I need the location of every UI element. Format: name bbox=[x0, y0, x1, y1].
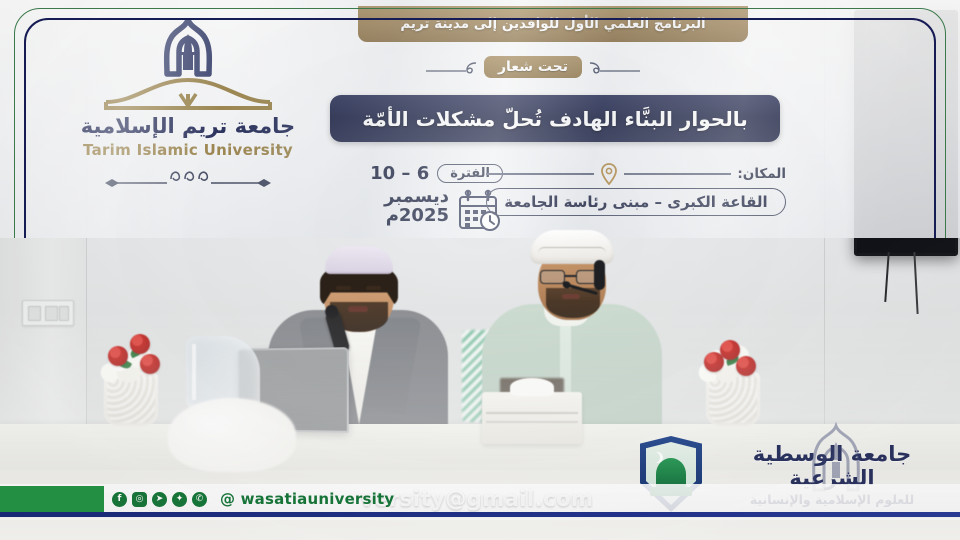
event-slogan-text: بالحوار البنَّاء الهادف تُحلّ مشكلات الأ… bbox=[362, 107, 747, 131]
ghost-email-overlay: versity@gmail.com bbox=[360, 487, 593, 511]
ornament-divider bbox=[78, 163, 298, 189]
program-title-text: البرنامج العلمي الأول للوافدين إلى مدينة… bbox=[400, 16, 705, 32]
motto-pill: تحت شعار bbox=[484, 56, 582, 78]
event-banner-backdrop: جامعة تريم الإسلامية Tarim Islamic Unive… bbox=[0, 0, 960, 238]
facebook-icon[interactable]: f bbox=[112, 492, 127, 507]
place-value: القاعة الكبرى – مبنى رئاسة الجامعة bbox=[486, 188, 786, 216]
headset-microphone-icon bbox=[594, 260, 605, 290]
turban bbox=[530, 230, 614, 264]
tissue-box bbox=[482, 392, 582, 444]
period-month-year: ديسمبر 2025م bbox=[384, 187, 449, 226]
wall-switch-plate bbox=[22, 300, 74, 326]
place-rule-right bbox=[486, 173, 594, 174]
period-month-label: ديسمبر bbox=[384, 187, 449, 206]
footer-green-block bbox=[0, 486, 104, 512]
instagram-icon[interactable]: ◎ bbox=[132, 492, 147, 507]
period-year-label: 2025م bbox=[384, 206, 449, 225]
mosque-pen-book-icon bbox=[103, 16, 273, 112]
map-pin-icon bbox=[600, 163, 618, 185]
university-name-arabic: جامعة تريم الإسلامية bbox=[78, 114, 298, 138]
rose-flower-vase-right bbox=[702, 334, 766, 426]
program-title-banner: البرنامج العلمي الأول للوافدين إلى مدينة… bbox=[358, 6, 748, 42]
rose-flower-vase-left bbox=[104, 330, 168, 426]
social-media-row: f ◎ ➤ ✦ ✆ @ wasatiauniversity bbox=[112, 488, 394, 510]
event-slogan-banner: بالحوار البنَّاء الهادف تُحلّ مشكلات الأ… bbox=[330, 95, 780, 142]
telegram-icon[interactable]: ➤ bbox=[152, 492, 167, 507]
twitter-icon[interactable]: ✦ bbox=[172, 492, 187, 507]
footer-navy-rule bbox=[0, 512, 960, 517]
motto-row: تحت شعار bbox=[402, 52, 664, 82]
place-label: المكان: bbox=[737, 166, 786, 182]
event-period-block: الفترة 6 – 10 bbox=[318, 160, 503, 236]
whatsapp-icon[interactable]: ✆ bbox=[192, 492, 207, 507]
tarim-university-logo: جامعة تريم الإسلامية Tarim Islamic Unive… bbox=[78, 16, 298, 189]
event-place-block: المكان: القاعة الكبرى – مبنى رئاسة الجام… bbox=[486, 163, 786, 216]
university-name-english: Tarim Islamic University bbox=[78, 141, 298, 159]
screenshot-root: جامعة تريم الإسلامية Tarim Islamic Unive… bbox=[0, 0, 960, 540]
social-handle[interactable]: @ wasatiauniversity bbox=[220, 490, 394, 508]
footer-rule-highlight bbox=[0, 518, 960, 520]
kufi-cap bbox=[325, 246, 393, 274]
white-foreground-object bbox=[168, 398, 296, 472]
place-rule-left bbox=[624, 173, 732, 174]
period-dates: 6 – 10 bbox=[370, 163, 429, 184]
